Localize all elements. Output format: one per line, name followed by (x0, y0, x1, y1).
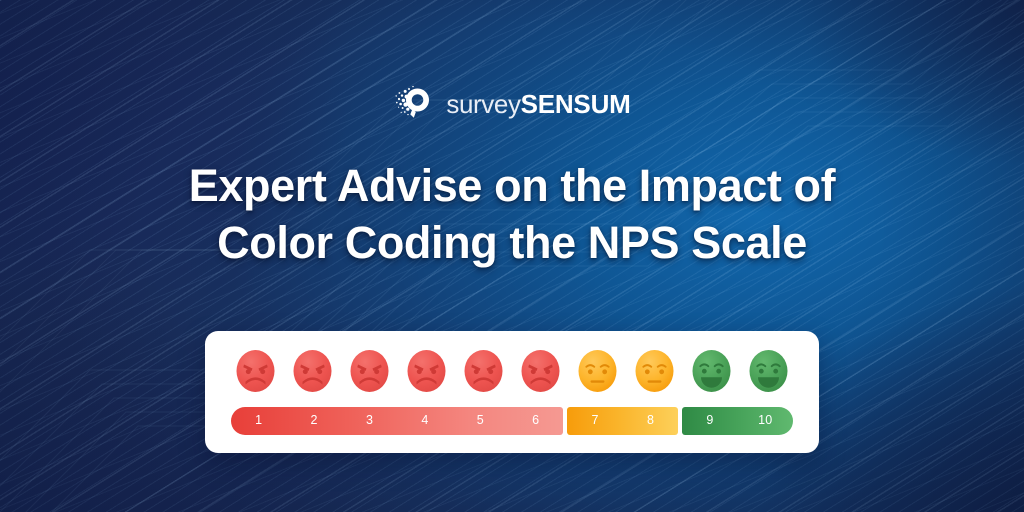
nps-face-row (231, 347, 793, 395)
nps-score-5[interactable]: 5 (453, 414, 508, 427)
page-title: Expert Advise on the Impact of Color Cod… (189, 158, 835, 271)
neutral-face-icon (575, 347, 620, 395)
nps-score-6[interactable]: 6 (508, 414, 563, 427)
angry-face-icon (461, 347, 506, 395)
brand-wordmark: surveySENSUM (446, 91, 630, 117)
nps-segment-passives[interactable]: 7 8 (567, 407, 678, 435)
nps-scale-card: 1 2 3 4 5 6 7 8 9 10 (205, 331, 819, 453)
page-title-line-1: Expert Advise on the Impact of (189, 158, 835, 215)
survey-magnifier-particle-icon (393, 84, 437, 124)
happy-face-icon (689, 347, 734, 395)
angry-face-icon (233, 347, 278, 395)
nps-score-2[interactable]: 2 (286, 414, 341, 427)
nps-score-4[interactable]: 4 (397, 414, 452, 427)
brand-logo: surveySENSUM (393, 84, 630, 124)
angry-face-icon (518, 347, 563, 395)
nps-scale-bar: 1 2 3 4 5 6 7 8 9 10 (231, 407, 793, 435)
angry-face-icon (404, 347, 449, 395)
happy-face-icon (746, 347, 791, 395)
banner-content: surveySENSUM Expert Advise on the Impact… (0, 0, 1024, 512)
brand-name-light: survey (446, 89, 520, 119)
nps-score-9[interactable]: 9 (682, 414, 737, 427)
angry-face-icon (290, 347, 335, 395)
page-title-line-2: Color Coding the NPS Scale (189, 215, 835, 272)
nps-segment-detractors[interactable]: 1 2 3 4 5 6 (231, 407, 563, 435)
nps-score-3[interactable]: 3 (342, 414, 397, 427)
nps-score-7[interactable]: 7 (567, 414, 622, 427)
brand-name-bold: SENSUM (521, 89, 631, 119)
neutral-face-icon (632, 347, 677, 395)
nps-score-1[interactable]: 1 (231, 414, 286, 427)
angry-face-icon (347, 347, 392, 395)
nps-color-coding-banner: surveySENSUM Expert Advise on the Impact… (0, 0, 1024, 512)
nps-segment-promoters[interactable]: 9 10 (682, 407, 793, 435)
nps-score-8[interactable]: 8 (623, 414, 678, 427)
nps-score-10[interactable]: 10 (738, 414, 793, 427)
